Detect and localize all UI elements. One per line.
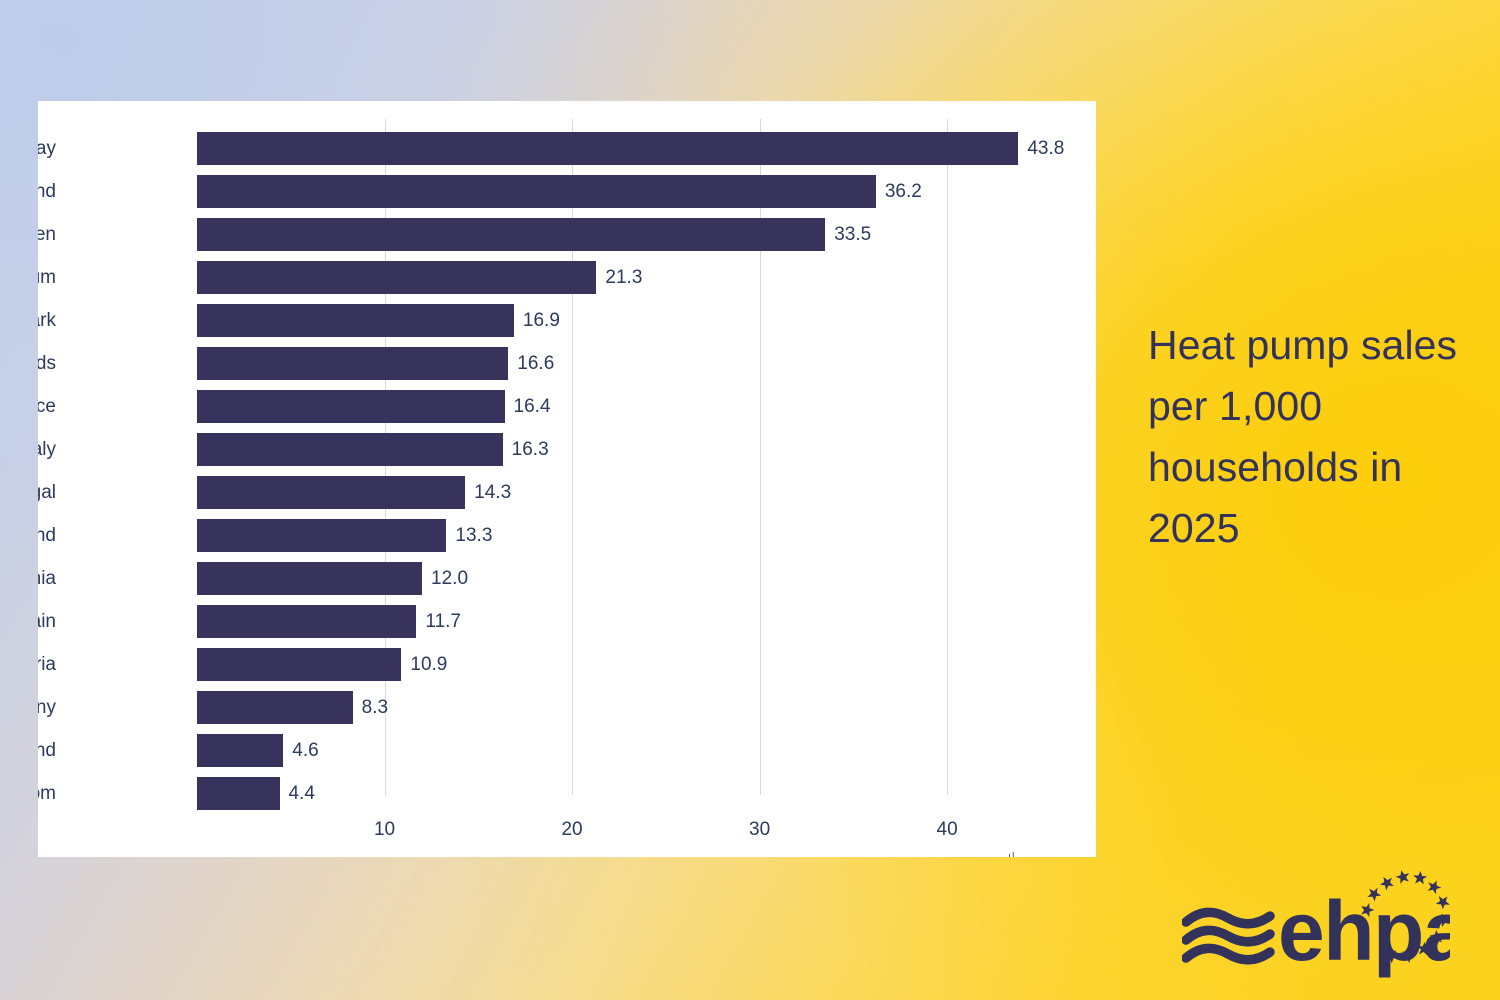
category-label: Finland <box>38 181 56 203</box>
bar-value-label: 12.0 <box>431 568 468 590</box>
category-label: Belgium <box>38 267 56 289</box>
bar-row[interactable]: Switzerland13.3 <box>38 519 1096 552</box>
x-axis-tick-label: 10 <box>374 819 395 841</box>
bar[interactable] <box>197 304 514 337</box>
bar-value-label: 16.9 <box>523 310 560 332</box>
bar-row[interactable]: Netherlands16.6 <box>38 347 1096 380</box>
category-label: Italy <box>38 439 56 461</box>
bar[interactable] <box>197 734 283 767</box>
bar-row[interactable]: Germany8.3 <box>38 691 1096 724</box>
category-label: Norway <box>38 138 56 160</box>
bar[interactable] <box>197 648 401 681</box>
category-label: Germany <box>38 697 56 719</box>
bar-row[interactable]: Austria10.9 <box>38 648 1096 681</box>
bar-chart-plot-area: 10203040Norway43.8Finland36.2Sweden33.5B… <box>38 101 1096 857</box>
bar-value-label: 36.2 <box>885 181 922 203</box>
category-label: Switzerland <box>38 525 56 547</box>
bar-value-label: 14.3 <box>474 482 511 504</box>
bar-row[interactable]: Denmark16.9 <box>38 304 1096 337</box>
bar-row[interactable]: Spain11.7 <box>38 605 1096 638</box>
bar-row[interactable]: Poland4.6 <box>38 734 1096 767</box>
chart-panel: 10203040Norway43.8Finland36.2Sweden33.5B… <box>38 101 1096 857</box>
bar[interactable] <box>197 691 353 724</box>
bar-row[interactable]: France16.4 <box>38 390 1096 423</box>
bar-value-label: 33.5 <box>834 224 871 246</box>
bar-value-label: 4.4 <box>289 783 315 805</box>
bar-value-label: 16.4 <box>514 396 551 418</box>
category-label: Denmark <box>38 310 56 332</box>
x-axis-tick-label: 40 <box>937 819 958 841</box>
category-label: Poland <box>38 740 56 762</box>
bar[interactable] <box>197 433 503 466</box>
bar[interactable] <box>197 476 465 509</box>
bar-value-label: 16.3 <box>512 439 549 461</box>
bar[interactable] <box>197 175 876 208</box>
bar[interactable] <box>197 261 596 294</box>
bar-row[interactable]: Italy16.3 <box>38 433 1096 466</box>
category-label: Sweden <box>38 224 56 246</box>
bar[interactable] <box>197 777 280 810</box>
category-label: Spain <box>38 611 56 633</box>
bar-value-label: 8.3 <box>362 697 388 719</box>
bar[interactable] <box>197 562 422 595</box>
bar[interactable] <box>197 390 505 423</box>
bar-row[interactable]: Finland36.2 <box>38 175 1096 208</box>
bar[interactable] <box>197 132 1018 165</box>
bar-row[interactable]: Sweden33.5 <box>38 218 1096 251</box>
page-title: Heat pump sales per 1,000 households in … <box>1148 315 1478 559</box>
x-axis-tick-label: 20 <box>561 819 582 841</box>
category-label: United Kingdom <box>38 783 56 805</box>
category-label: Austria <box>38 654 56 676</box>
wave-lines-icon <box>1186 912 1270 959</box>
x-axis-tick-label: 30 <box>749 819 770 841</box>
bar-value-label: 43.8 <box>1027 138 1064 160</box>
bar-row[interactable]: Czechia12.0 <box>38 562 1096 595</box>
bar-value-label: 21.3 <box>605 267 642 289</box>
bar-row[interactable]: United Kingdom4.4 <box>38 777 1096 810</box>
bar-row[interactable]: Portugal14.3 <box>38 476 1096 509</box>
bar-row[interactable]: Belgium21.3 <box>38 261 1096 294</box>
ehpa-logo: ehpa <box>1182 868 1450 980</box>
bar-value-label: 4.6 <box>292 740 318 762</box>
category-label: Netherlands <box>38 353 56 375</box>
bar-value-label: 16.6 <box>517 353 554 375</box>
clipped-artifact: ıl. <box>1008 851 1020 857</box>
bar-value-label: 13.3 <box>455 525 492 547</box>
category-label: Portugal <box>38 482 56 504</box>
category-label: Czechia <box>38 568 56 590</box>
bar[interactable] <box>197 519 446 552</box>
category-label: France <box>38 396 56 418</box>
bar-row[interactable]: Norway43.8 <box>38 132 1096 165</box>
bar[interactable] <box>197 605 416 638</box>
bar-value-label: 10.9 <box>410 654 447 676</box>
logo-wordmark: ehpa <box>1278 884 1450 978</box>
bar[interactable] <box>197 218 825 251</box>
chart-infographic: 10203040Norway43.8Finland36.2Sweden33.5B… <box>0 0 1500 1000</box>
bar[interactable] <box>197 347 508 380</box>
bar-value-label: 11.7 <box>425 611 461 633</box>
